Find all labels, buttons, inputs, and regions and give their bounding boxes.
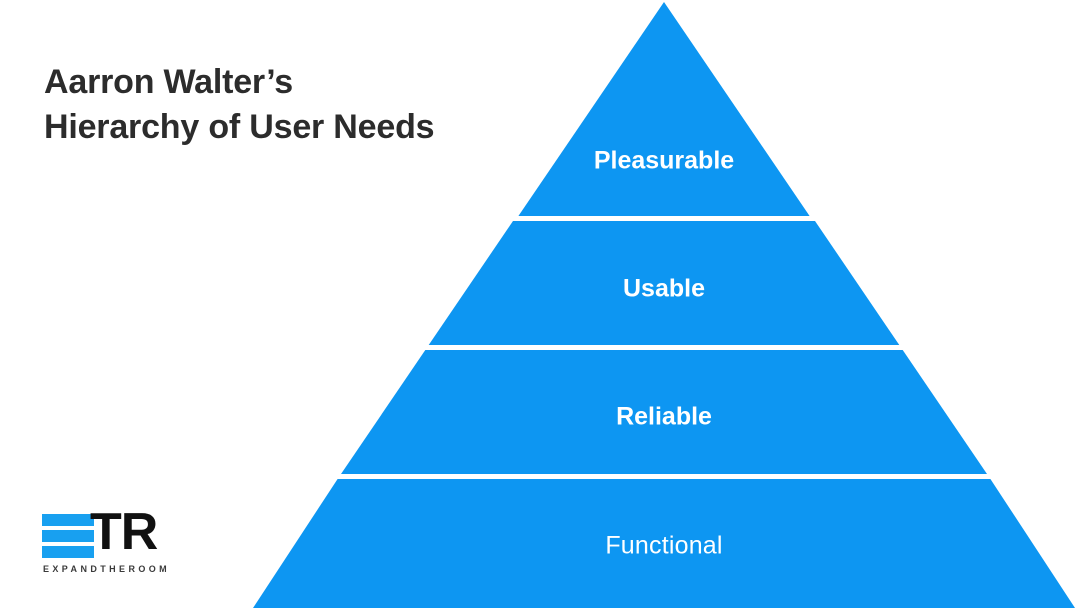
logo-mark: TR: [40, 512, 160, 558]
pyramid-tier-usable[interactable]: [429, 221, 900, 345]
pyramid-tier-reliable[interactable]: [341, 350, 987, 474]
logo-e-bar-middle-icon: [42, 530, 94, 542]
pyramid-tier-pleasurable[interactable]: [518, 2, 809, 216]
logo-wordmark: EXPANDTHEROOM: [43, 564, 170, 574]
logo-e-bar-bottom-icon: [42, 546, 94, 558]
logo-tr-text: TR: [90, 506, 157, 558]
slide-canvas: Aarron Walter’s Hierarchy of User Needs …: [0, 0, 1080, 608]
pyramid-tier-functional[interactable]: [253, 479, 1075, 608]
expandtheroom-logo[interactable]: TR EXPANDTHEROOM: [40, 512, 200, 584]
logo-e-bar-top-icon: [42, 514, 94, 526]
